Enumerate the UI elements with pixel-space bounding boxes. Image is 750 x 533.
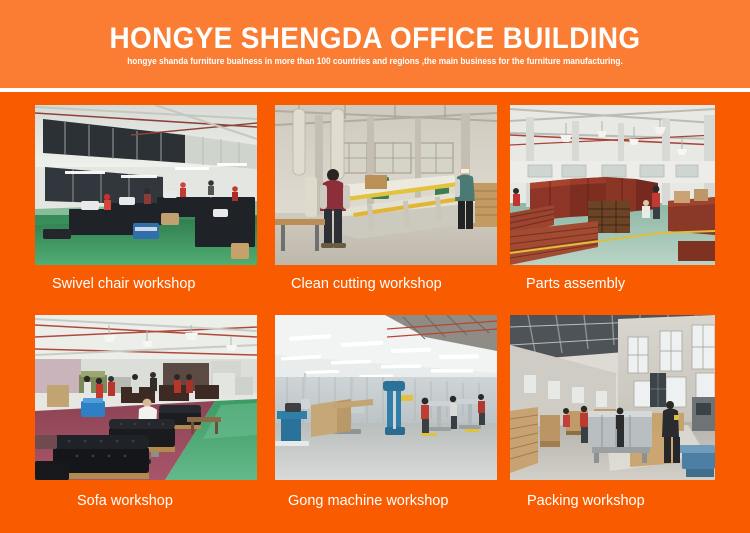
gallery-caption-packing-workshop: Packing workshop [510, 492, 645, 510]
panel-saw-machine-image [275, 105, 497, 265]
workshop-photo-clean-cutting[interactable] [275, 105, 497, 265]
sofa-assembly-hall-image [35, 315, 257, 480]
bandsaw-hall-image [275, 315, 497, 480]
gallery-caption-parts-assembly: Parts assembly [510, 275, 625, 293]
workshop-gallery-grid: Swivel chair workshop [0, 92, 750, 533]
mahogany-panel-stacks-image [510, 105, 715, 265]
packing-line-image [510, 315, 715, 480]
gallery-caption-sofa-workshop: Sofa workshop [35, 492, 173, 510]
page-subtitle: hongye shanda furniture bualness in more… [30, 56, 720, 67]
sewing-assembly-hall-image [35, 105, 257, 265]
gallery-caption-gong-machine-workshop: Gong machine workshop [275, 492, 448, 510]
workshop-photo-gong-machine[interactable] [275, 315, 497, 480]
workshop-photo-packing[interactable] [510, 315, 715, 480]
gallery-caption-clean-cutting-workshop: Clean cutting workshop [275, 275, 442, 293]
banner-header: HONGYE SHENGDA OFFICE BUILDING hongye sh… [0, 0, 750, 88]
workshop-photo-parts-assembly[interactable] [510, 105, 715, 265]
page-title: HONGYE SHENGDA OFFICE BUILDING [26, 22, 724, 56]
workshop-photo-swivel-chair[interactable] [35, 105, 257, 265]
gallery-panel: Swivel chair workshop [0, 92, 750, 533]
product-detail-banner: HONGYE SHENGDA OFFICE BUILDING hongye sh… [0, 0, 750, 533]
gallery-caption-swivel-chair-workshop: Swivel chair workshop [35, 275, 195, 293]
workshop-photo-sofa[interactable] [35, 315, 257, 480]
